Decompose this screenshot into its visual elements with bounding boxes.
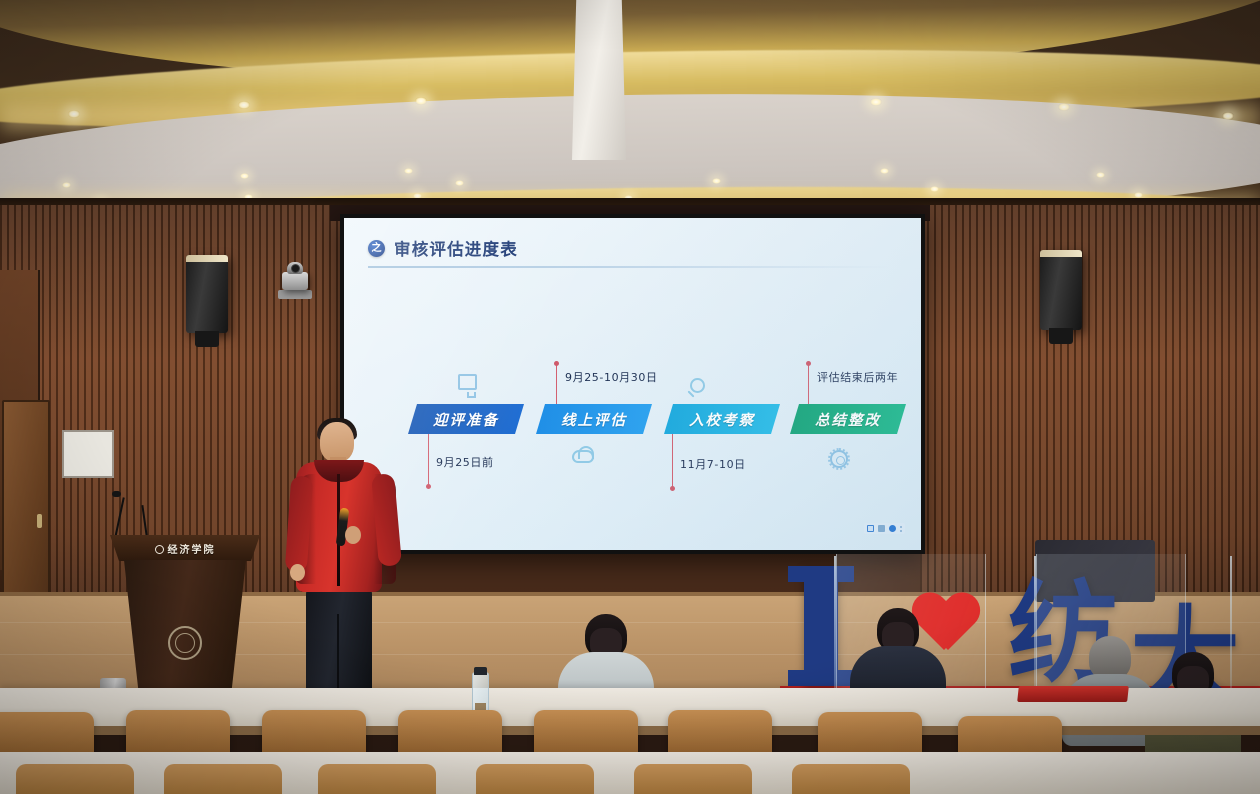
chair: [16, 764, 134, 794]
lecture-hall-photo: 审核评估进度表 9月25日前 9月25-10月30日 11月7-10日: [0, 0, 1260, 794]
microphone-head: [112, 491, 121, 497]
search-icon: [690, 378, 705, 393]
university-emblem-icon: [368, 240, 385, 257]
gear-icon: [830, 450, 848, 468]
timeline-date-1: 9月25-10月30日: [565, 369, 658, 385]
red-folder: [1017, 686, 1129, 702]
slide-title: 审核评估进度表: [394, 236, 518, 260]
timeline-stage-2[interactable]: 入校考察: [664, 404, 780, 434]
timeline-stem: [808, 364, 809, 406]
projection-screen: 审核评估进度表 9月25日前 9月25-10月30日 11月7-10日: [344, 218, 921, 550]
downlight: [1058, 103, 1070, 111]
downlight: [880, 168, 889, 174]
letter-i: I: [804, 566, 838, 686]
timeline-dot: [670, 486, 675, 491]
timeline-banners: 迎评准备 线上评估 入校考察 总结整改: [366, 404, 908, 434]
chair: [476, 764, 594, 794]
timeline-dot: [806, 361, 811, 366]
wall-speaker-left: [186, 255, 228, 333]
school-emblem-icon: [155, 545, 164, 554]
glass-panel-edge: [1034, 556, 1036, 696]
monitor-icon: [458, 374, 477, 390]
speaker-top-trim: [186, 255, 228, 262]
timeline-dot: [426, 484, 431, 489]
chair: [318, 764, 436, 794]
wall-speaker-right: [1040, 250, 1082, 330]
timeline-stage-0[interactable]: 迎评准备: [408, 404, 524, 434]
podium-crest-icon: [168, 626, 202, 660]
timeline-date-0: 9月25日前: [436, 454, 494, 470]
timeline-stage-1[interactable]: 线上评估: [536, 404, 652, 434]
downlight: [415, 97, 427, 105]
timeline-stage-3[interactable]: 总结整改: [790, 404, 906, 434]
presenter-trousers: [306, 586, 372, 696]
more-options-icon[interactable]: [900, 528, 902, 530]
downlight: [712, 178, 721, 184]
timeline-date-3: 评估结束后两年: [817, 369, 898, 385]
podium-label: 经济学院: [110, 541, 260, 556]
presenter: [288, 418, 396, 718]
glass-panel-edge: [834, 556, 836, 696]
chair: [792, 764, 910, 794]
timeline-stem: [556, 364, 557, 406]
downlight: [930, 186, 939, 192]
ptz-camera-icon: [282, 272, 308, 290]
downlight: [870, 98, 882, 106]
speaker-base: [195, 331, 219, 347]
timeline-date-2: 11月7-10日: [680, 456, 746, 472]
downlight: [68, 110, 80, 118]
speaker-base: [1049, 328, 1073, 344]
presentation-toolbar[interactable]: [864, 523, 905, 534]
timeline: 9月25日前 9月25-10月30日 11月7-10日 评估结束后两年 迎评准备: [366, 358, 908, 508]
chair: [634, 764, 752, 794]
wall-notice-board: [62, 430, 114, 478]
pointer-icon[interactable]: [889, 525, 896, 532]
timeline-stem: [672, 434, 673, 488]
podium-label-text: 经济学院: [168, 545, 216, 556]
downlight: [240, 173, 249, 179]
title-divider: [368, 266, 888, 268]
camera-mount: [278, 290, 312, 299]
ceiling-pillar: [572, 0, 626, 160]
presenter-hand-right: [345, 526, 361, 544]
settings-icon[interactable]: [878, 525, 885, 532]
downlight: [1222, 112, 1234, 120]
downlight: [1096, 172, 1105, 178]
timeline-dot: [554, 361, 559, 366]
timeline-stem: [428, 434, 429, 486]
chair: [164, 764, 282, 794]
downlight: [62, 182, 71, 188]
presenter-hand-left: [290, 564, 305, 581]
downlight: [404, 168, 413, 174]
downlight: [455, 180, 464, 186]
speaker-top-trim: [1040, 250, 1082, 257]
ceiling: [0, 0, 1260, 215]
slide-header: 审核评估进度表: [368, 236, 518, 260]
projection-screen-frame: 审核评估进度表 9月25日前 9月25-10月30日 11月7-10日: [340, 214, 925, 554]
presenter-leg-split: [337, 614, 339, 694]
presenter-head: [320, 422, 354, 462]
cloud-icon: [572, 450, 594, 463]
screen-icon[interactable]: [867, 525, 874, 532]
downlight: [238, 101, 250, 109]
